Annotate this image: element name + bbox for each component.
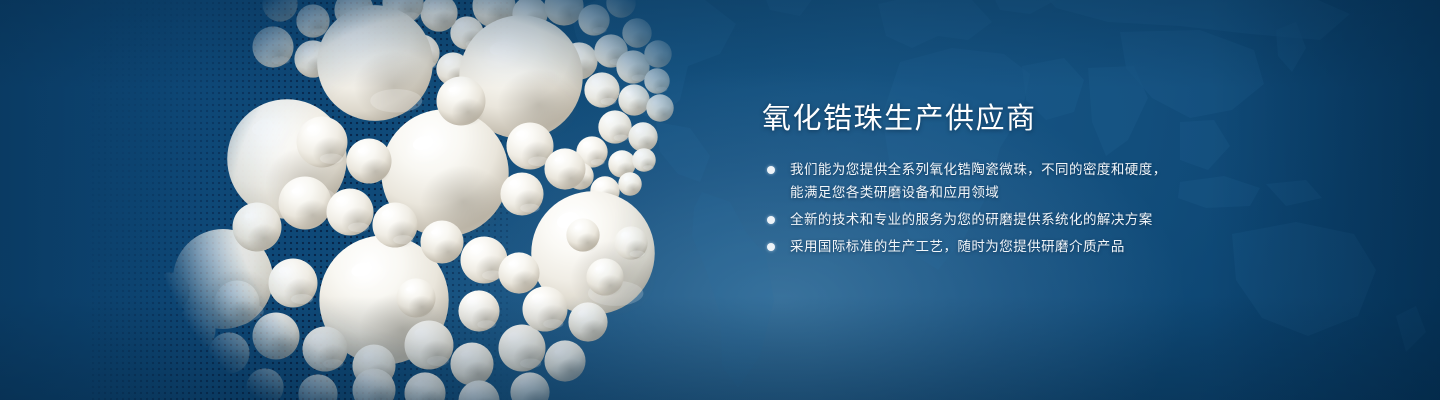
list-item-line-1: 我们能为您提供全系列氧化锆陶瓷微珠，不同的密度和硬度， (790, 162, 1167, 177)
zirconia-beads-photo (120, 0, 720, 400)
hero-banner: 氧化锆珠生产供应商 我们能为您提供全系列氧化锆陶瓷微珠，不同的密度和硬度， 能满… (0, 0, 1440, 400)
list-item-line-2: 能满足您各类研磨设备和应用领域 (790, 181, 1322, 204)
list-item: 采用国际标准的生产工艺，随时为您提供研磨介质产品 (762, 235, 1322, 258)
list-item-label: 我们能为您提供全系列氧化锆陶瓷微珠，不同的密度和硬度， 能满足您各类研磨设备和应… (790, 158, 1322, 204)
banner-copy: 氧化锆珠生产供应商 我们能为您提供全系列氧化锆陶瓷微珠，不同的密度和硬度， 能满… (762, 104, 1322, 258)
list-item-label: 采用国际标准的生产工艺，随时为您提供研磨介质产品 (790, 235, 1322, 258)
bullet-dot-icon (767, 166, 775, 174)
feature-list: 我们能为您提供全系列氧化锆陶瓷微珠，不同的密度和硬度， 能满足您各类研磨设备和应… (762, 158, 1322, 258)
list-item-line-1: 全新的技术和专业的服务为您的研磨提供系统化的解决方案 (790, 212, 1153, 227)
bullet-dot-icon (767, 216, 775, 224)
list-item: 我们能为您提供全系列氧化锆陶瓷微珠，不同的密度和硬度， 能满足您各类研磨设备和应… (762, 158, 1322, 204)
page-title: 氧化锆珠生产供应商 (762, 104, 1322, 134)
bullet-dot-icon (767, 243, 775, 251)
list-item-label: 全新的技术和专业的服务为您的研磨提供系统化的解决方案 (790, 208, 1322, 231)
list-item: 全新的技术和专业的服务为您的研磨提供系统化的解决方案 (762, 208, 1322, 231)
list-item-line-1: 采用国际标准的生产工艺，随时为您提供研磨介质产品 (790, 239, 1125, 254)
